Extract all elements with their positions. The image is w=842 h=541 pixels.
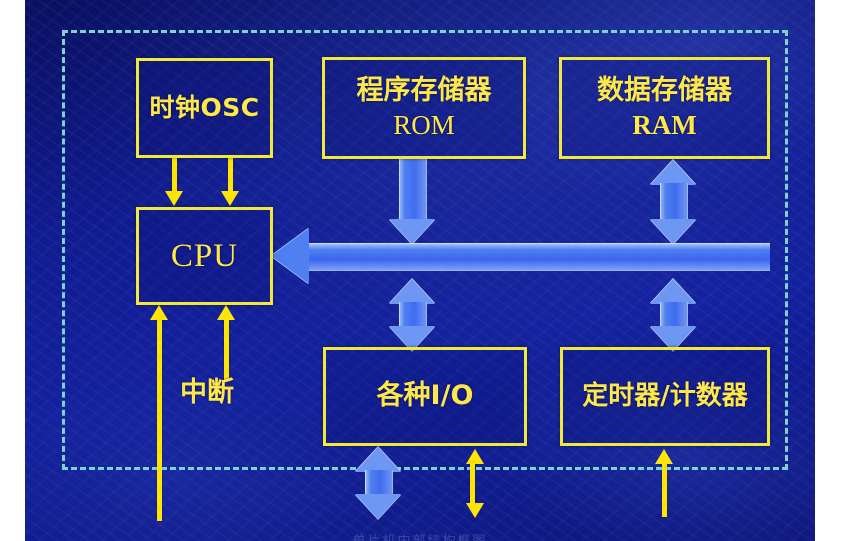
block-clock-osc[interactable]: 时钟OSC xyxy=(136,58,273,158)
block-data-memory-label-cn: 数据存储器 xyxy=(597,76,732,106)
label-interrupt: 中断 xyxy=(180,370,234,409)
block-timer-counter[interactable]: 定时器/计数器 xyxy=(560,347,770,446)
slide-canvas: 时钟OSC 程序存储器 ROM 数据存储器 RAM CPU 各种I/O 定时器/… xyxy=(25,0,815,541)
slide-image: 时钟OSC 程序存储器 ROM 数据存储器 RAM CPU 各种I/O 定时器/… xyxy=(0,0,842,541)
block-timer-counter-label: 定时器/计数器 xyxy=(582,382,748,411)
block-io-label: 各种I/O xyxy=(377,381,474,411)
block-data-memory-label-ram: RAM xyxy=(632,110,696,140)
diagram-layer: 时钟OSC 程序存储器 ROM 数据存储器 RAM CPU 各种I/O 定时器/… xyxy=(25,0,815,541)
block-io[interactable]: 各种I/O xyxy=(323,347,527,446)
block-program-memory-label-rom: ROM xyxy=(393,110,455,140)
block-data-memory-ram[interactable]: 数据存储器 RAM xyxy=(559,57,770,159)
block-program-memory-label-cn: 程序存储器 xyxy=(357,76,492,106)
block-cpu[interactable]: CPU xyxy=(136,207,273,305)
block-program-memory-rom[interactable]: 程序存储器 ROM xyxy=(322,57,526,159)
block-cpu-label: CPU xyxy=(171,238,238,275)
slide-caption: 单片机内部结构框图 xyxy=(25,530,815,541)
block-clock-osc-label: 时钟OSC xyxy=(149,94,259,122)
